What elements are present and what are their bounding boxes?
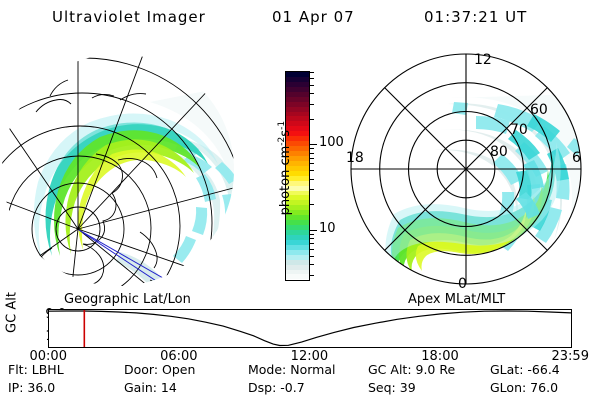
status-mode: Mode: Normal xyxy=(248,362,335,377)
status-gc-alt: GC Alt: 9.0 Re xyxy=(368,362,455,377)
geographic-image-panel[interactable]: Geographic Lat/Lon xyxy=(0,42,262,294)
status-ip: IP: 36.0 xyxy=(8,380,55,395)
status-dsp: Dsp: -0.7 xyxy=(248,380,305,395)
geographic-plot-svg xyxy=(0,42,262,294)
status-seq: Seq: 39 xyxy=(368,380,416,395)
apex-plot-svg: 12 18 6 0 60 70 80 xyxy=(338,42,600,294)
apex-mlat-label-70: 70 xyxy=(510,122,528,138)
colorbar-tick-label-10: 10 xyxy=(319,221,336,236)
header-time: 01:37:21 UT xyxy=(424,8,527,26)
colorbar-ticks xyxy=(309,71,317,279)
colorbar-axis-label-mid: s xyxy=(278,130,293,137)
status-row-2: IP: 36.0 Gain: 14 Dsp: -0.7 Seq: 39 GLon… xyxy=(0,380,600,398)
colorbar-axis-exponent-2: -1 xyxy=(277,121,287,130)
orbit-y-axis-label: GC Alt xyxy=(5,289,20,337)
apex-mlt-label-6: 6 xyxy=(572,150,581,166)
orbit-trace-svg xyxy=(49,310,571,347)
status-glat: GLat: -66.4 xyxy=(490,362,560,377)
apex-mlt-label-0: 0 xyxy=(458,276,467,292)
colorbar-axis-exponent-1: -2 xyxy=(277,137,287,146)
orbit-altitude-plot[interactable]: GC Alt 9.0 1.8 00:0006:0012:0018:0023:59 xyxy=(0,296,600,358)
status-door: Door: Open xyxy=(124,362,195,377)
colorbar-axis-label-main: photon cm xyxy=(278,146,293,216)
apex-mlat-label-80: 80 xyxy=(490,144,508,160)
header-bar: Ultraviolet Imager 01 Apr 07 01:37:21 UT xyxy=(0,6,600,32)
status-gain: Gain: 14 xyxy=(124,380,177,395)
header-date: 01 Apr 07 xyxy=(272,8,355,26)
status-bar: Flt: LBHL Door: Open Mode: Normal GC Alt… xyxy=(0,362,600,400)
orbit-plot-box xyxy=(48,309,572,348)
apex-mlat-label-60: 60 xyxy=(530,102,548,118)
apex-mlt-label-12: 12 xyxy=(474,52,492,68)
page-title: Ultraviolet Imager xyxy=(52,8,206,26)
status-row-1: Flt: LBHL Door: Open Mode: Normal GC Alt… xyxy=(0,362,600,380)
colorbar-axis-label: photon cm-2s-1 xyxy=(277,88,293,248)
apex-mlt-label-18: 18 xyxy=(346,150,364,166)
apex-mlt-spokes xyxy=(351,54,581,284)
status-glon: GLon: 76.0 xyxy=(490,380,558,395)
status-flt: Flt: LBHL xyxy=(8,362,64,377)
orbit-altitude-trace xyxy=(49,311,571,346)
colorbar: 100 10 photon cm-2s-1 xyxy=(262,60,340,295)
apex-dial-panel[interactable]: 12 18 6 0 60 70 80 xyxy=(338,42,600,294)
